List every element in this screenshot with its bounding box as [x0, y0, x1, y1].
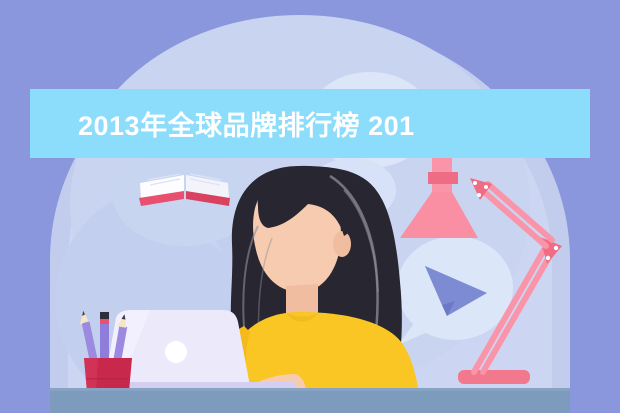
laptop-logo: [165, 341, 187, 363]
illustration: [0, 0, 620, 413]
screenshot-canvas: 2013年全球品牌排行榜 201: [0, 0, 620, 413]
lamp-collar: [428, 172, 458, 184]
title-banner: 2013年全球品牌排行榜 201: [30, 89, 590, 158]
lamp-base: [458, 370, 530, 384]
desk-surface: [50, 388, 570, 413]
person-ear: [333, 231, 351, 257]
page-title: 2013年全球品牌排行榜 201: [30, 104, 415, 143]
